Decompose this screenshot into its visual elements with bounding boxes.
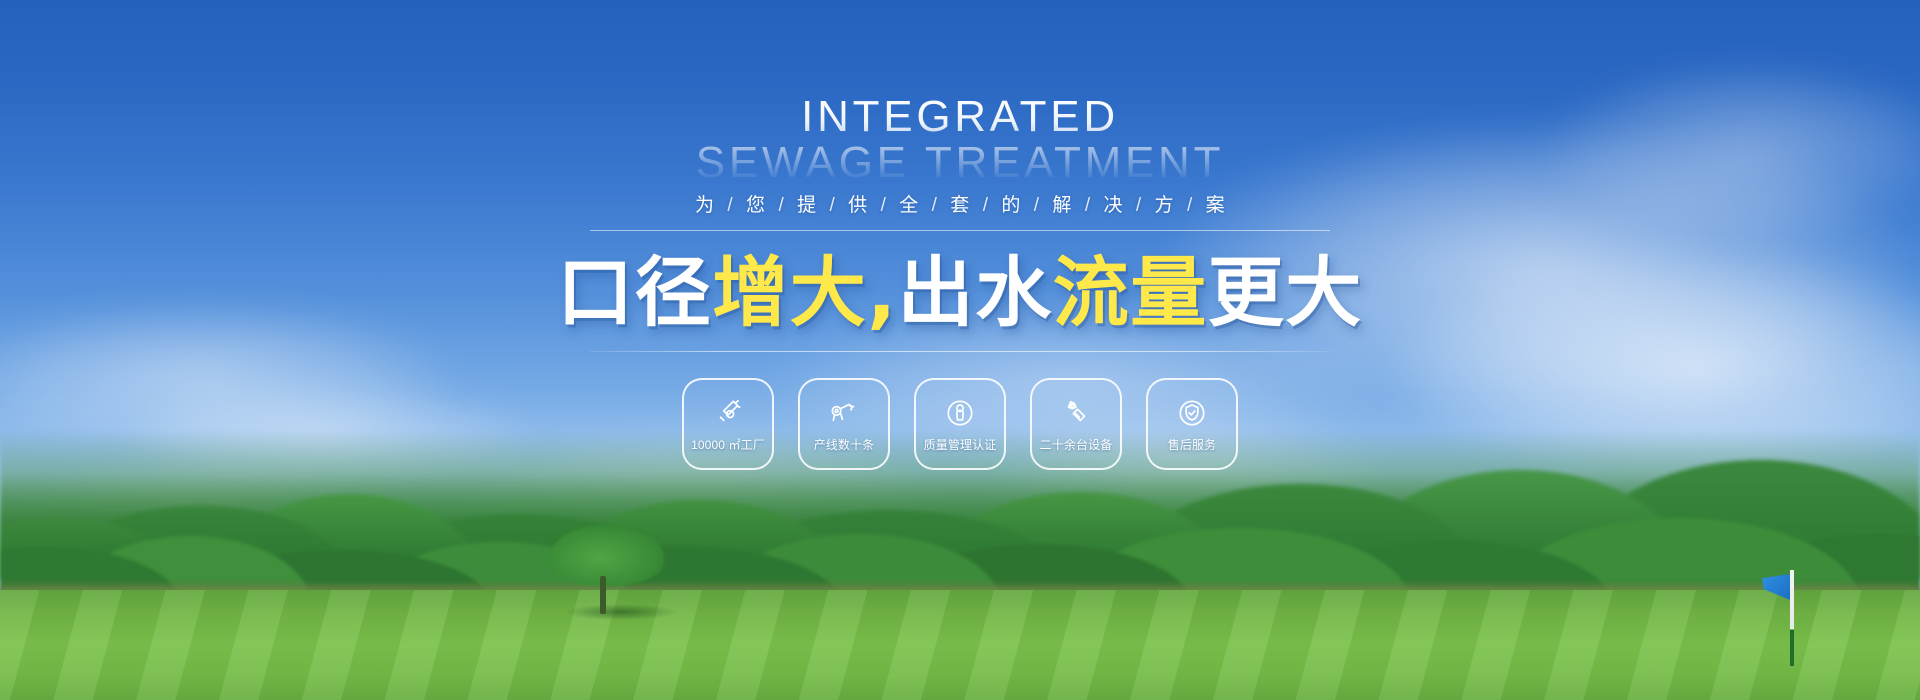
subtitle-char: 提 <box>797 195 816 216</box>
feature-badge-after-sales[interactable]: 售后服务 <box>1146 378 1238 470</box>
subtitle-separator: / <box>881 195 887 216</box>
subtitle-char: 供 <box>848 195 867 216</box>
feature-badge-quality-cert[interactable]: 质量管理认证 <box>914 378 1006 470</box>
subtitle-separator: / <box>983 195 989 216</box>
headline-segment: 出水 <box>898 248 1053 337</box>
feature-badge-equipment[interactable]: 二十余台设备 <box>1030 378 1122 470</box>
english-heading: INTEGRATED SEWAGE TREATMENT <box>696 96 1224 184</box>
subtitle-separator: / <box>932 195 938 216</box>
subtitle-char: 的 <box>1001 195 1020 216</box>
hero-banner: INTEGRATED SEWAGE TREATMENT 为/您/提/供/全/套/… <box>0 0 1920 700</box>
subtitle-separator: / <box>1136 195 1142 216</box>
headline-segment: 增大 <box>712 248 867 337</box>
subtitle-char: 决 <box>1103 195 1122 216</box>
production-line-icon <box>827 396 861 430</box>
banner-content: INTEGRATED SEWAGE TREATMENT 为/您/提/供/全/套/… <box>0 0 1920 700</box>
feature-badge-label: 质量管理认证 <box>924 436 997 453</box>
english-heading-line1: INTEGRATED <box>696 96 1224 138</box>
feature-badge-factory[interactable]: 10000 ㎡工厂 <box>682 378 774 470</box>
subtitle-row: 为/您/提/供/全/套/的/解/决/方/案 <box>590 190 1330 231</box>
subtitle-char: 案 <box>1206 195 1225 216</box>
subtitle-char: 为 <box>695 195 714 216</box>
headline-segment: , <box>867 248 897 337</box>
subtitle-char: 全 <box>899 195 918 216</box>
equipment-tool-icon <box>1059 396 1093 430</box>
subtitle-char: 解 <box>1052 195 1071 216</box>
main-headline: 口径增大,出水流量更大 <box>557 253 1363 333</box>
headline-segment: 口径 <box>557 248 712 337</box>
subtitle-char: 您 <box>746 195 765 216</box>
feature-badge-label: 10000 ㎡工厂 <box>691 436 765 453</box>
headline-segment: 流量 <box>1053 248 1208 337</box>
english-heading-line2: SEWAGE TREATMENT <box>696 142 1224 184</box>
microscope-icon <box>711 396 745 430</box>
certification-badge-icon <box>943 396 977 430</box>
subtitle-text: 为/您/提/供/全/套/的/解/决/方/案 <box>682 190 1238 217</box>
subtitle-separator: / <box>1034 195 1040 216</box>
subtitle-char: 套 <box>950 195 969 216</box>
feature-badge-label: 售后服务 <box>1168 436 1216 453</box>
feature-badge-label: 产线数十条 <box>814 436 875 453</box>
subtitle-separator: / <box>830 195 836 216</box>
feature-badge-production-lines[interactable]: 产线数十条 <box>798 378 890 470</box>
feature-badge-list: 10000 ㎡工厂 产线数十条 质量管 <box>682 378 1238 470</box>
subtitle-separator: / <box>778 195 784 216</box>
subtitle-char: 方 <box>1155 195 1174 216</box>
subtitle-separator: / <box>727 195 733 216</box>
headline-segment: 更大 <box>1208 248 1363 337</box>
shield-check-icon <box>1175 396 1209 430</box>
subtitle-separator: / <box>1085 195 1091 216</box>
subtitle-separator: / <box>1187 195 1193 216</box>
headline-divider <box>590 351 1330 352</box>
feature-badge-label: 二十余台设备 <box>1040 436 1113 453</box>
